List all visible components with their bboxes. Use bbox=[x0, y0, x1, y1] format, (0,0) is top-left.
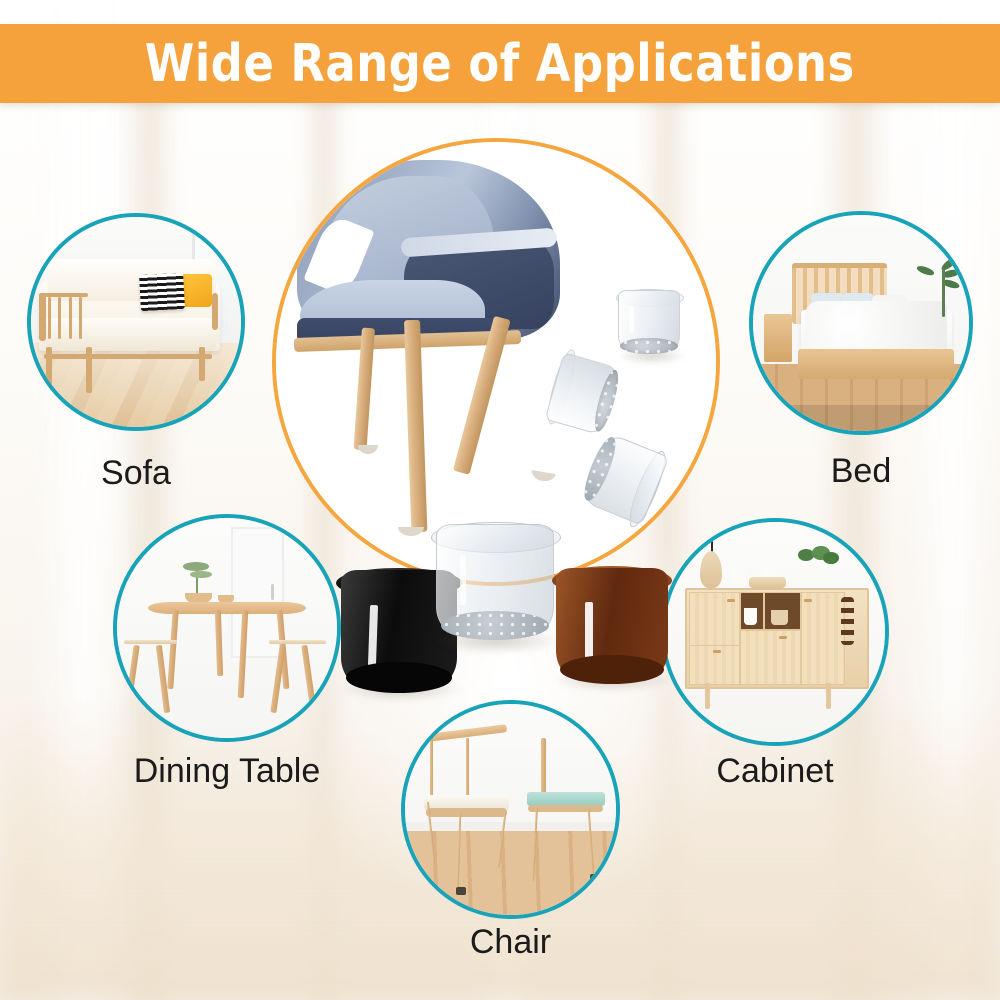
product-brown bbox=[556, 568, 668, 680]
chair-circle bbox=[401, 700, 620, 919]
dining-chair-left-leg-1 bbox=[124, 645, 139, 713]
sofa-spindle-2 bbox=[58, 297, 61, 339]
bed-plant bbox=[930, 263, 960, 323]
chair-left-leg-front bbox=[457, 812, 462, 891]
hero-circle bbox=[272, 138, 720, 586]
cabinet-handle-2 bbox=[713, 650, 721, 653]
chair-right-cap bbox=[590, 874, 599, 882]
dining-table-scene bbox=[117, 518, 337, 738]
hero-armchair bbox=[285, 160, 584, 433]
cabinet-pendant-cord bbox=[711, 522, 713, 553]
cabinet-door-3 bbox=[740, 630, 801, 685]
dining-chair-right-leg-2 bbox=[301, 645, 316, 714]
cabinet-leg-right bbox=[826, 683, 832, 709]
bed-nightstand bbox=[764, 314, 792, 362]
cabinet-scene bbox=[665, 522, 885, 742]
product-clear-highlight bbox=[460, 555, 466, 604]
cabinet-plant-leaf-3 bbox=[823, 552, 839, 564]
bed-frame bbox=[798, 349, 954, 379]
product-clear bbox=[436, 524, 554, 636]
chair-left-leg-right bbox=[497, 812, 506, 868]
cabinet-plant bbox=[795, 546, 843, 588]
bed-plant-stem bbox=[942, 269, 945, 317]
sofa-spindle-3 bbox=[69, 297, 72, 339]
chair-right-back-post bbox=[541, 738, 546, 799]
dining-door-handle bbox=[271, 584, 274, 600]
cabinet-leg-left bbox=[705, 683, 711, 709]
sofa-caption: Sofa bbox=[27, 456, 245, 490]
dining-chair-left-leg-2 bbox=[155, 645, 169, 714]
chair-left-cap-front bbox=[456, 887, 466, 895]
cabinet-plant-pot bbox=[809, 565, 825, 587]
chair-scene bbox=[405, 704, 616, 915]
sofa-stretcher bbox=[44, 354, 212, 359]
hero-scene bbox=[276, 142, 716, 582]
hero-cap-bottom bbox=[581, 432, 670, 525]
cabinet-book-box bbox=[749, 577, 786, 588]
sofa-scene bbox=[31, 217, 241, 427]
hero-cap-top-highlight bbox=[629, 306, 634, 333]
cabinet-circle bbox=[661, 518, 889, 746]
sofa-leg-right bbox=[199, 347, 205, 381]
bed-caption: Bed bbox=[749, 454, 973, 488]
dining-table-caption: Dining Table bbox=[93, 754, 361, 788]
chair-left bbox=[422, 729, 523, 894]
cabinet-shelf-cup-2 bbox=[771, 610, 789, 625]
sofa-arm-right bbox=[212, 293, 218, 331]
dining-chair-right-leg-1 bbox=[270, 645, 285, 714]
dining-table-circle bbox=[113, 514, 341, 742]
chair-left-apron bbox=[426, 808, 507, 816]
sofa-leg-left bbox=[46, 347, 52, 393]
dining-chair-left bbox=[121, 632, 183, 724]
header-banner: Wide Range of Applications bbox=[0, 24, 1000, 103]
cabinet-caption: Cabinet bbox=[661, 754, 889, 788]
chair-left-back-post-2 bbox=[466, 738, 469, 801]
dining-chair-right-seat bbox=[269, 640, 326, 645]
chair-right-leg-front bbox=[532, 808, 538, 881]
armchair-leg-tip-mid bbox=[398, 527, 424, 536]
infographic-stage: Wide Range of Applications bbox=[0, 0, 1000, 1000]
chair-left-back-post-1 bbox=[430, 734, 433, 800]
bed-circle bbox=[749, 211, 973, 435]
armchair-leg-tip-right bbox=[530, 470, 555, 483]
page-title: Wide Range of Applications bbox=[145, 38, 855, 90]
product-brown-highlight bbox=[585, 602, 593, 658]
chair-caption: Chair bbox=[401, 925, 620, 959]
chair-right-leg-back bbox=[587, 808, 594, 878]
chair-right-apron bbox=[528, 805, 602, 813]
cabinet-handle-1 bbox=[727, 599, 735, 602]
cabinet-door-4 bbox=[801, 592, 845, 684]
dining-bonsai-leaf-1 bbox=[183, 562, 209, 571]
sofa-leg-mid bbox=[86, 347, 92, 393]
sofa-spindle-4 bbox=[79, 297, 82, 339]
bed-floor-shadow bbox=[753, 405, 969, 431]
armchair-leg-tip-front-left bbox=[358, 445, 378, 454]
cabinet-wall-decor bbox=[841, 597, 854, 645]
cabinet-handle-4 bbox=[804, 599, 812, 602]
hero-cap-top bbox=[618, 290, 680, 352]
cabinet-cup-top-1 bbox=[731, 568, 746, 588]
sofa-checkered-pillow bbox=[139, 273, 185, 311]
sofa-arm-rail-top bbox=[39, 293, 87, 297]
sofa-arm-left bbox=[39, 293, 45, 341]
chair-right bbox=[521, 738, 614, 890]
sofa-circle bbox=[27, 213, 245, 431]
cabinet-shelf-cup-1 bbox=[744, 608, 757, 626]
dining-chair-right bbox=[267, 632, 333, 724]
bed-scene bbox=[753, 215, 969, 431]
dining-chair-left-seat bbox=[124, 640, 177, 645]
sofa-spindle-1 bbox=[48, 297, 51, 339]
product-black-pad bbox=[346, 662, 453, 693]
